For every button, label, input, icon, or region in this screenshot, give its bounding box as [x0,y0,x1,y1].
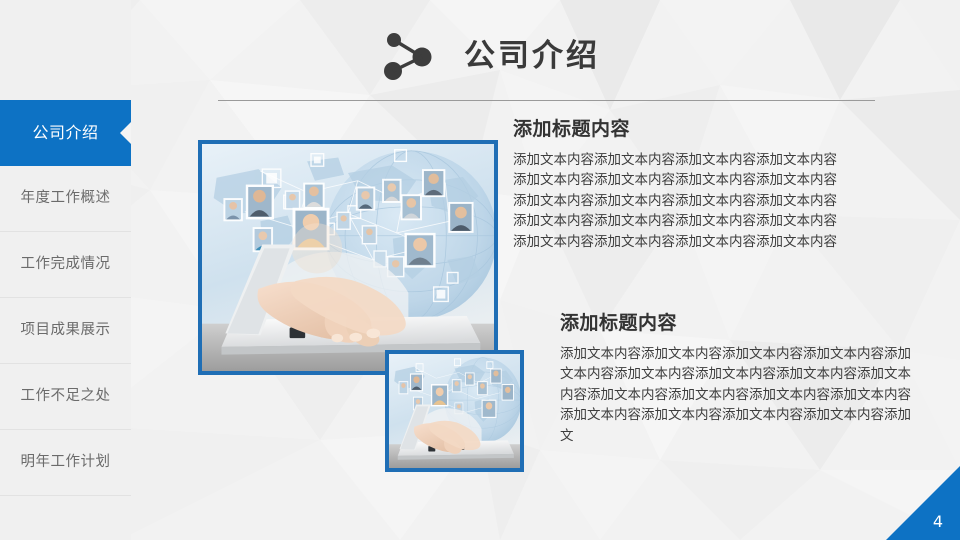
sidebar-item-label: 明年工作计划 [21,455,111,470]
photo-illustration-inset [389,354,520,468]
sidebar-item-work-shortcomings[interactable]: 工作不足之处 [0,364,131,430]
page-number-corner [886,466,960,540]
photo-hands-typing-laptop-main [198,140,498,375]
title-divider [218,100,875,101]
content-block-two-title: 添加标题内容 [560,312,912,335]
body-line: 添加文本内容添加文本内容添加文本内容添加文本内容 [513,170,913,191]
sidebar-item-label: 项目成果展示 [21,323,111,338]
sidebar-item-label: 公司介绍 [32,125,98,141]
body-line: 添加文本内容添加文本内容添加文本内容添加文本内容 [513,150,913,171]
sidebar-item-label: 工作不足之处 [21,389,111,404]
content-block-one-body: 添加文本内容添加文本内容添加文本内容添加文本内容 添加文本内容添加文本内容添加文… [513,150,913,253]
content-block-one-title: 添加标题内容 [513,118,913,141]
sidebar-navigation: 公司介绍 年度工作概述 工作完成情况 项目成果展示 工作不足之处 明年工作计划 [0,0,131,540]
body-line: 添加文本内容添加文本内容添加文本内容添加文本内容 [513,211,913,232]
sidebar-item-label: 年度工作概述 [21,191,111,206]
sidebar-item-next-year-plan[interactable]: 明年工作计划 [0,430,131,496]
sidebar-item-company-intro[interactable]: 公司介绍 [0,100,131,166]
photo-illustration [202,144,494,371]
page-number: 4 [933,514,943,530]
content-block-two: 添加标题内容 添加文本内容添加文本内容添加文本内容添加文本内容添加文本内容添加文… [560,312,912,446]
page-title: 公司介绍 [464,41,600,72]
content-block-one: 添加标题内容 添加文本内容添加文本内容添加文本内容添加文本内容 添加文本内容添加… [513,118,913,252]
photo-hands-typing-laptop-inset [385,350,524,472]
sidebar-item-work-completion[interactable]: 工作完成情况 [0,232,131,298]
body-line: 添加文本内容添加文本内容添加文本内容添加文本内容 [513,232,913,253]
content-block-two-body: 添加文本内容添加文本内容添加文本内容添加文本内容添加文本内容添加文本内容添加文本… [560,344,912,447]
share-network-icon [380,28,436,84]
active-pointer-icon [120,122,131,144]
presentation-slide: 公司介绍 年度工作概述 工作完成情况 项目成果展示 工作不足之处 明年工作计划 … [0,0,960,540]
slide-header: 公司介绍 [380,28,600,84]
sidebar-item-annual-work-overview[interactable]: 年度工作概述 [0,166,131,232]
body-line: 添加文本内容添加文本内容添加文本内容添加文本内容 [513,191,913,212]
sidebar-item-project-results[interactable]: 项目成果展示 [0,298,131,364]
sidebar-item-label: 工作完成情况 [21,257,111,272]
